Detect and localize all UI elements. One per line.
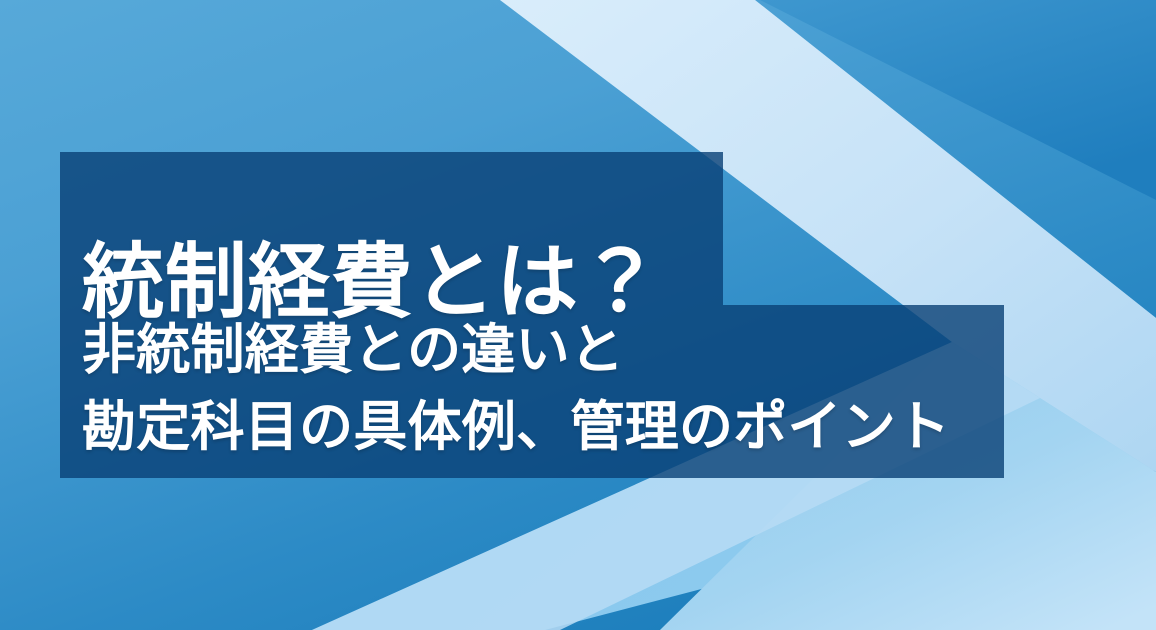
subtitle-backdrop-plate — [60, 305, 1004, 478]
title-backdrop-plate — [60, 152, 723, 305]
banner-canvas: 統制経費とは？ 非統制経費との違いと 勘定科目の具体例、管理のポイント — [0, 0, 1156, 630]
